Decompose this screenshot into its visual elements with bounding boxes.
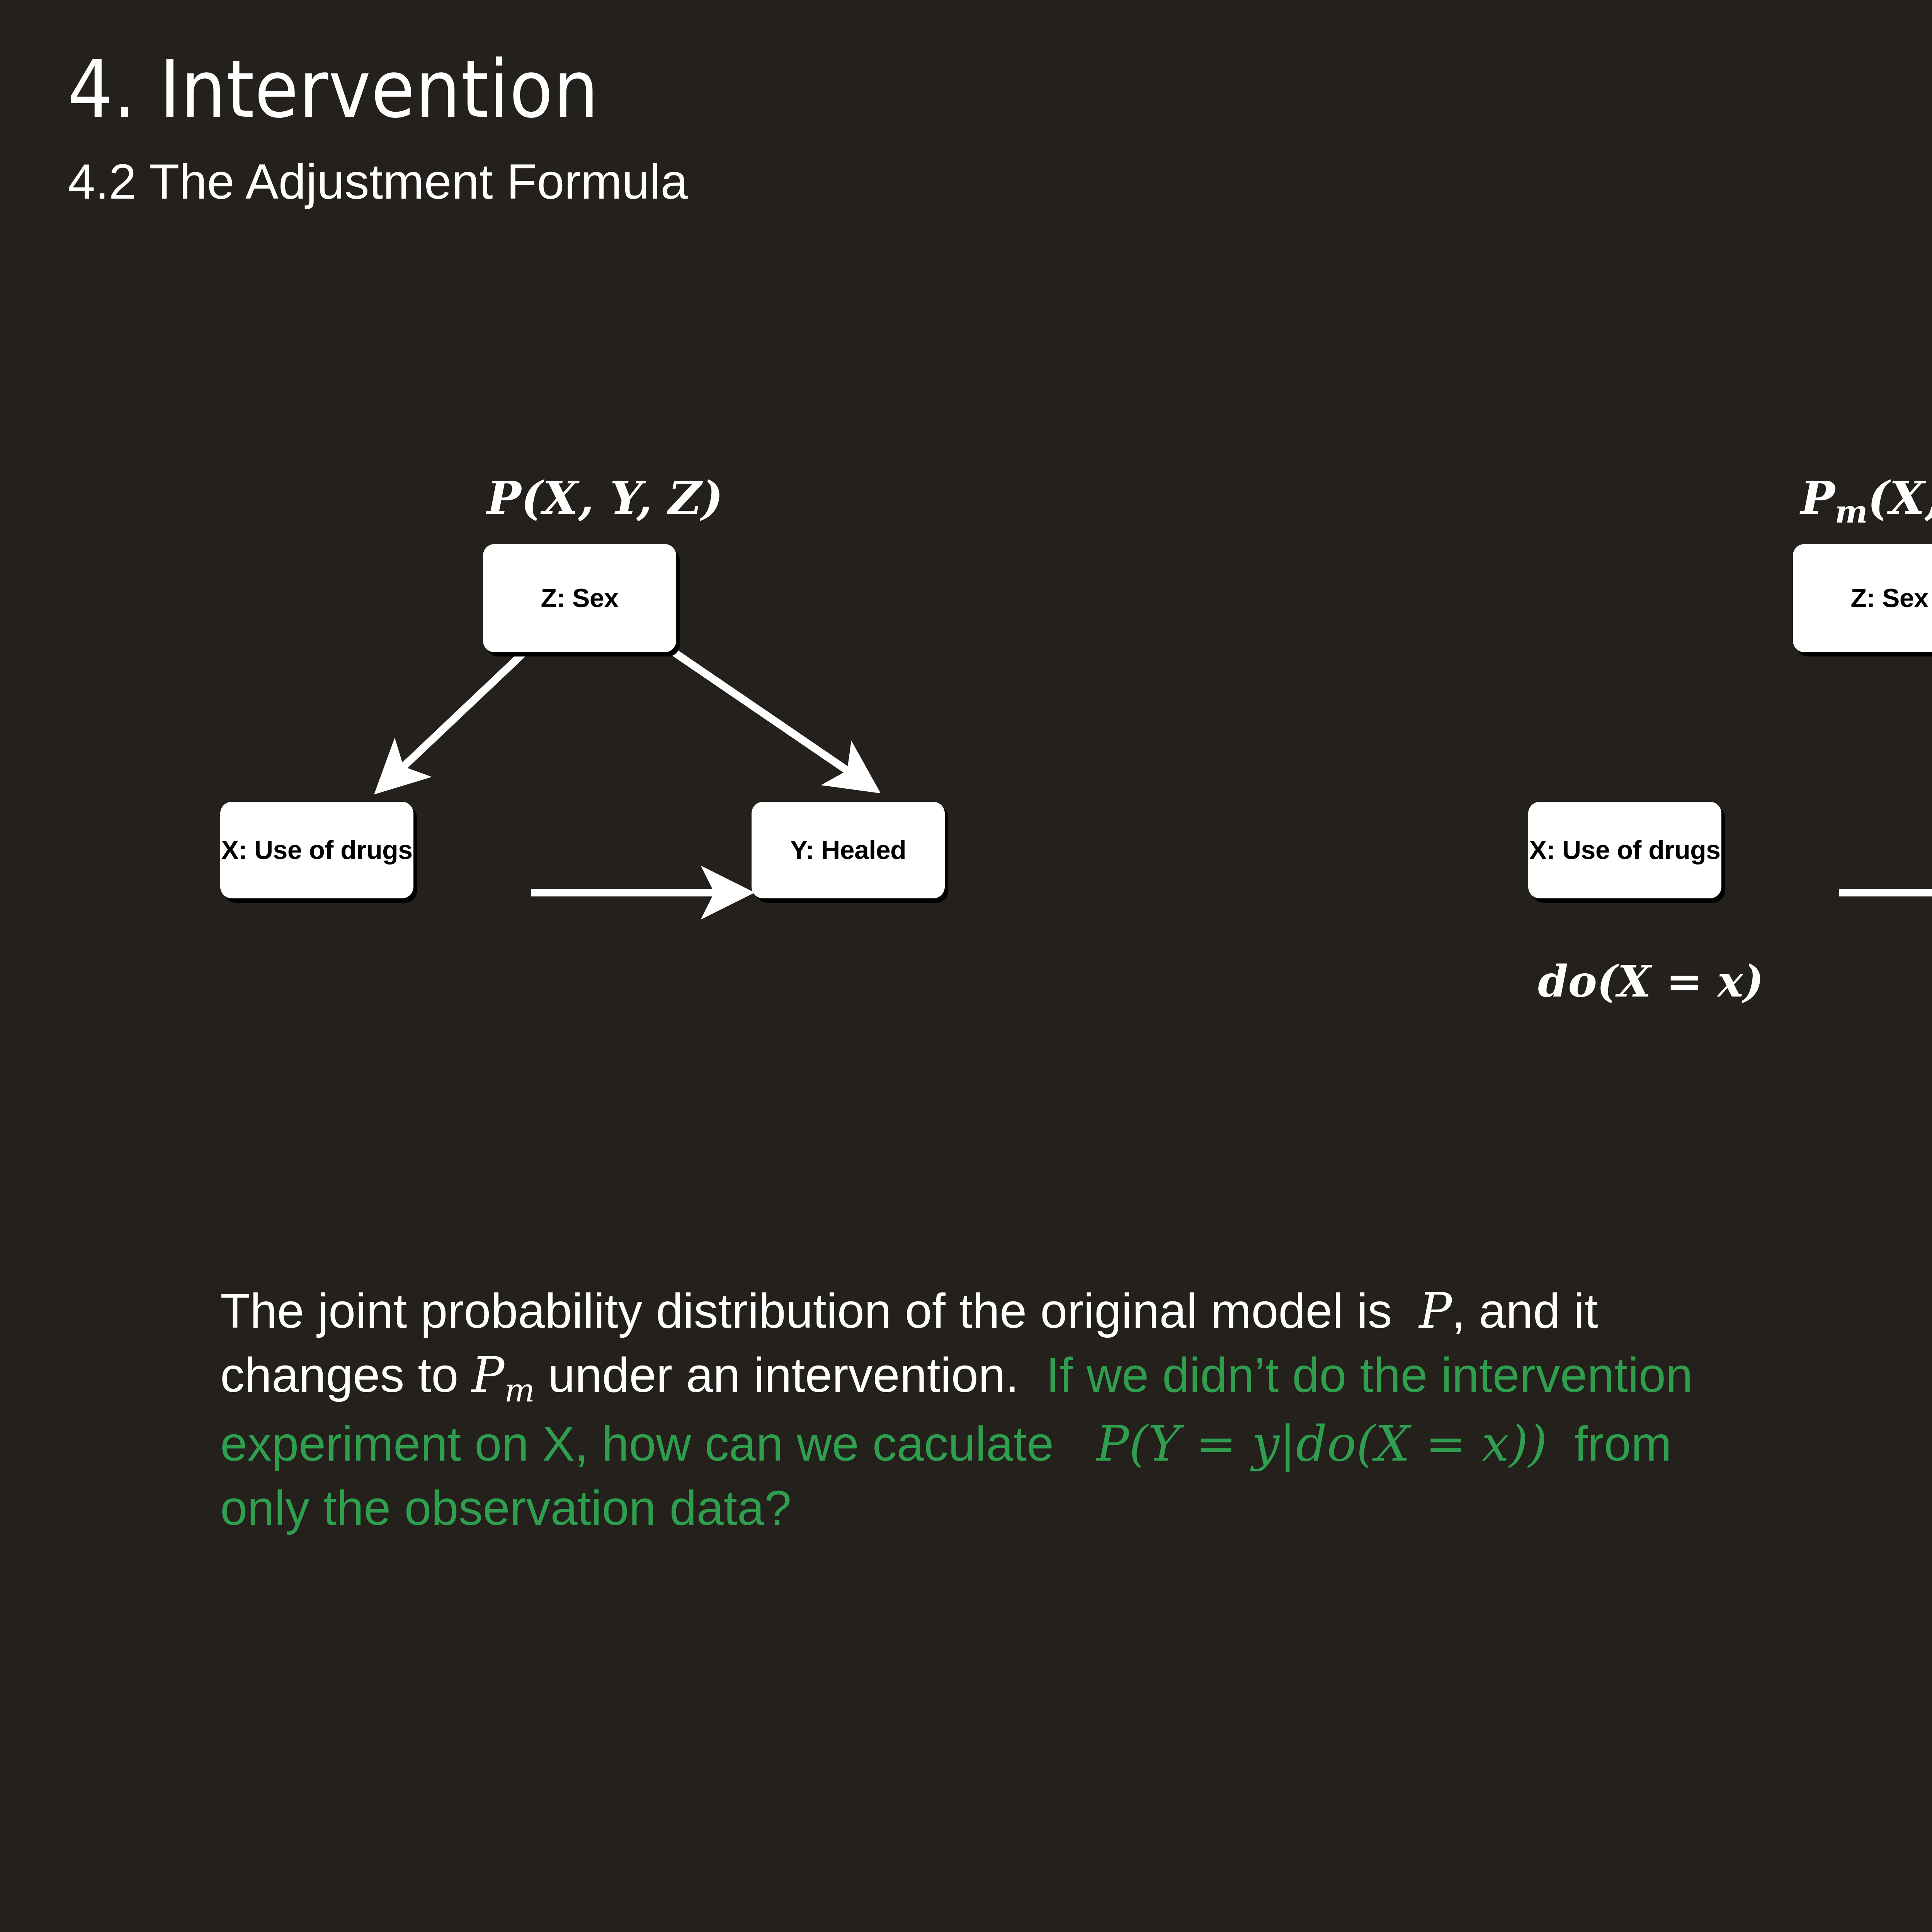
body-line-1-text-a: The joint probability distribution of th… bbox=[220, 1284, 1392, 1338]
node-x-use-of-drugs[interactable]: X: Use of drugs bbox=[220, 802, 413, 898]
node-x-use-of-drugs[interactable]: X: Use of drugs bbox=[1528, 802, 1721, 898]
body-line-2-highlight: If we didn’t do the intervention bbox=[1046, 1348, 1693, 1402]
body-line-2-text-b: under an intervention. bbox=[548, 1348, 1019, 1402]
body-line-3-text-b: from bbox=[1574, 1417, 1672, 1471]
body-line-2-text-a: changes to bbox=[220, 1348, 458, 1402]
body-line-2: changes toPmunder an intervention.If we … bbox=[220, 1343, 1932, 1412]
diagram-interventional-model: Pm(X, Y, Z) Z: Sex X: Use of drugs Y: He… bbox=[1492, 475, 1932, 1190]
header: 4. Intervention 4.2 The Adjustment Formu… bbox=[68, 50, 688, 207]
node-label: Z: Sex bbox=[1850, 583, 1928, 613]
node-label: Z: Sex bbox=[541, 583, 618, 613]
node-z-sex[interactable]: Z: Sex bbox=[483, 544, 676, 652]
body-line-3-text-a: experiment on X, how can we caculate bbox=[220, 1417, 1054, 1471]
body-line-3: experiment on X, how can we caculateP(Y … bbox=[220, 1412, 1932, 1476]
node-label: X: Use of drugs bbox=[221, 835, 413, 865]
page-subtitle: 4.2 The Adjustment Formula bbox=[68, 157, 688, 207]
do-operator-label: do(X = x) bbox=[1538, 960, 1764, 1003]
node-label: X: Use of drugs bbox=[1529, 835, 1721, 865]
body-line-3-math: P(Y = y|do(X = x)) bbox=[1096, 1415, 1547, 1472]
body-line-2-math-sub: m bbox=[504, 1372, 535, 1409]
edge-z-to-y bbox=[672, 651, 873, 788]
node-z-sex[interactable]: Z: Sex bbox=[1793, 544, 1932, 652]
page-title: 4. Intervention bbox=[68, 50, 688, 129]
body-line-1-text-b: , and it bbox=[1452, 1284, 1598, 1338]
body-line-2-math: P bbox=[471, 1347, 504, 1403]
body-line-4: only the observation data? bbox=[220, 1476, 1932, 1540]
body-paragraph: The joint probability distribution of th… bbox=[220, 1279, 1932, 1541]
node-y-healed[interactable]: Y: Healed bbox=[752, 802, 945, 898]
edge-z-to-x bbox=[381, 651, 526, 788]
body-line-1: The joint probability distribution of th… bbox=[220, 1279, 1932, 1343]
diagram-observational-model: P(X, Y, Z) Z: Sex X: Use of drugs Y: Hea… bbox=[216, 475, 1337, 1132]
body-line-4-text: only the observation data? bbox=[220, 1481, 791, 1535]
distribution-label-p: P(X, Y, Z) bbox=[487, 475, 723, 521]
slide-root: 4. Intervention 4.2 The Adjustment Formu… bbox=[0, 0, 1932, 1932]
node-label: Y: Healed bbox=[790, 835, 906, 865]
body-line-1-math: P bbox=[1419, 1282, 1452, 1339]
distribution-label-pm: Pm(X, Y, Z) bbox=[1801, 475, 1932, 527]
